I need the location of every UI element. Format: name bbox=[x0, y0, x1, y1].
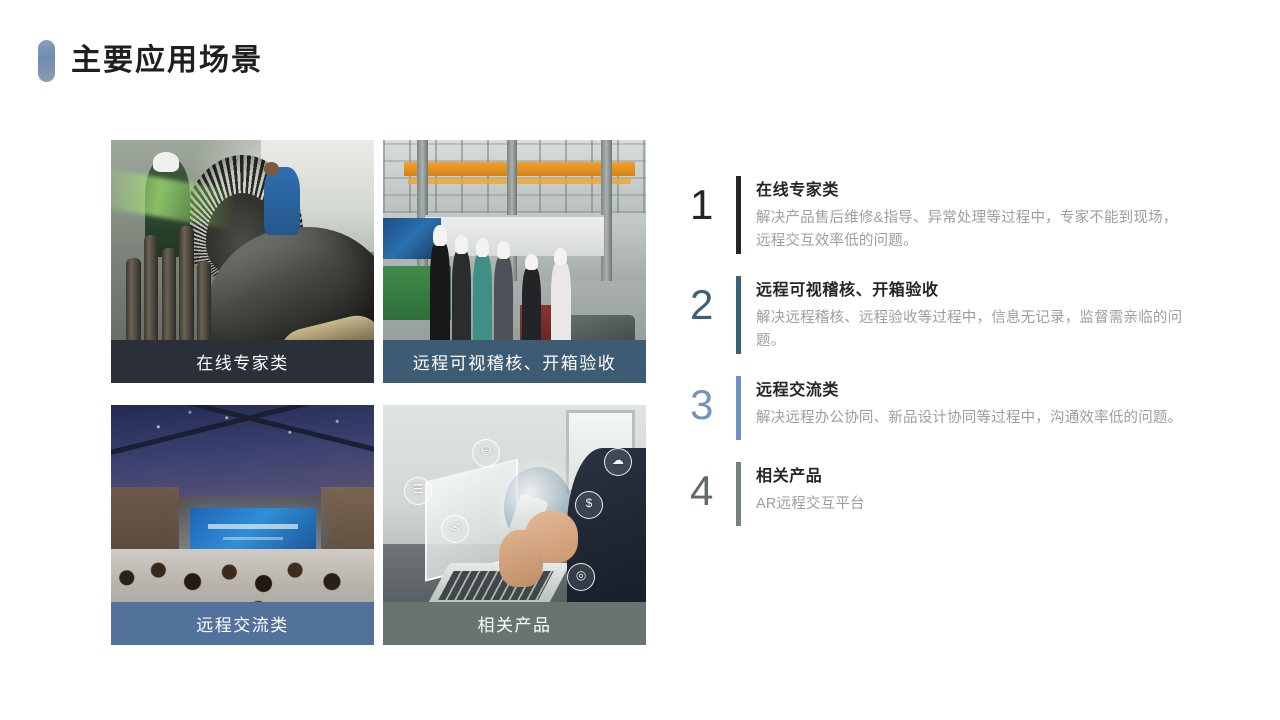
cloud-icon: ☁ bbox=[604, 448, 632, 476]
list-item[interactable]: 4 相关产品 AR远程交互平台 bbox=[690, 462, 1210, 526]
photo-caption: 远程交流类 bbox=[111, 602, 374, 645]
scenario-photo-grid: 在线专家类 远程可视稽核、开箱验收 bbox=[111, 140, 646, 645]
photo-card-online-expert[interactable]: 在线专家类 bbox=[111, 140, 374, 383]
photo-card-remote-audit[interactable]: 远程可视稽核、开箱验收 bbox=[383, 140, 646, 383]
list-item[interactable]: 2 远程可视稽核、开箱验收 解决远程稽核、远程验收等过程中，信息无记录，监督需亲… bbox=[690, 276, 1210, 354]
photo-caption: 相关产品 bbox=[383, 602, 646, 645]
item-description: 解决远程办公协同、新品设计协同等过程中，沟通效率低的问题。 bbox=[756, 407, 1186, 430]
item-number: 3 bbox=[690, 376, 736, 425]
item-description: 解决产品售后维修&指导、异常处理等过程中，专家不能到现场，远程交互效率低的问题。 bbox=[756, 207, 1186, 254]
doc-icon: ☰ bbox=[404, 477, 432, 505]
item-number: 1 bbox=[690, 176, 736, 225]
photo-card-remote-communication[interactable]: 远程交流类 bbox=[111, 405, 374, 645]
cart-icon: ⛁ bbox=[472, 439, 500, 467]
title-marker-icon bbox=[38, 40, 55, 82]
item-title: 相关产品 bbox=[756, 462, 1210, 486]
item-title: 远程交流类 bbox=[756, 376, 1210, 400]
photo-caption: 在线专家类 bbox=[111, 340, 374, 383]
item-description: AR远程交互平台 bbox=[756, 493, 1186, 516]
item-accent-bar bbox=[736, 276, 741, 354]
scenario-info-list: 1 在线专家类 解决产品售后维修&指导、异常处理等过程中，专家不能到现场，远程交… bbox=[690, 176, 1210, 548]
photo-caption: 远程可视稽核、开箱验收 bbox=[383, 340, 646, 383]
item-accent-bar bbox=[736, 376, 741, 440]
page-title: 主要应用场景 bbox=[71, 46, 263, 76]
photo-card-related-product[interactable]: ⛁ ☰ ✉ ☁ $ ◎ ▭ 相关产品 bbox=[383, 405, 646, 645]
item-accent-bar bbox=[736, 176, 741, 254]
item-title: 在线专家类 bbox=[756, 176, 1210, 200]
item-number: 2 bbox=[690, 276, 736, 325]
item-number: 4 bbox=[690, 462, 736, 511]
list-item[interactable]: 1 在线专家类 解决产品售后维修&指导、异常处理等过程中，专家不能到现场，远程交… bbox=[690, 176, 1210, 254]
slide-header: 主要应用场景 bbox=[38, 40, 263, 82]
item-description: 解决远程稽核、远程验收等过程中，信息无记录，监督需亲临的问题。 bbox=[756, 307, 1186, 354]
item-title: 远程可视稽核、开箱验收 bbox=[756, 276, 1210, 300]
item-accent-bar bbox=[736, 462, 741, 526]
list-item[interactable]: 3 远程交流类 解决远程办公协同、新品设计协同等过程中，沟通效率低的问题。 bbox=[690, 376, 1210, 440]
